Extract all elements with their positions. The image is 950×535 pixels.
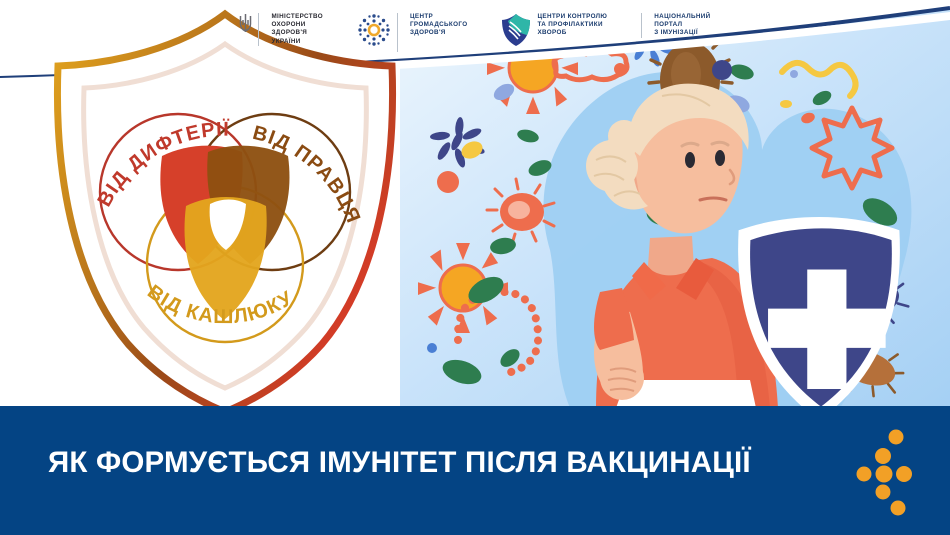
logo-divider — [258, 13, 259, 46]
logo-phc-label: Центр громадського здоров'я — [410, 13, 468, 38]
logo-public-health-center[interactable]: Центр громадського здоров'я — [357, 13, 468, 52]
cdc-shield-icon — [501, 13, 531, 52]
logo-ministry-of-health[interactable]: Міністерство охорони здоров'я України — [239, 13, 323, 46]
orange-dot-cluster — [852, 428, 938, 516]
poster-root: ВІД ДИФТЕРІЇ ВІД ПРАВЦЯ ВІД КАШЛЮКУ Міні… — [0, 0, 950, 535]
logo-divider — [397, 13, 398, 52]
logo-divider — [641, 13, 642, 38]
logo-portal-label: Національний портал з імунізації — [654, 13, 710, 38]
poster-title: ЯК ФОРМУЄТЬСЯ ІМУНІТЕТ ПІСЛЯ ВАКЦИНАЦІЇ — [48, 446, 838, 480]
header-logo-row: Міністерство охорони здоров'я України — [0, 0, 950, 72]
logo-ministry-label: Міністерство охорони здоров'я України — [271, 13, 323, 46]
logo-immunization-portal[interactable]: Національний портал з імунізації — [641, 13, 710, 38]
logo-cdc[interactable]: Центри контролю та профілактики хвороб — [501, 13, 607, 52]
logo-cdc-label: Центри контролю та профілактики хвороб — [537, 13, 607, 38]
ukraine-trident-icon — [239, 13, 252, 38]
public-health-sunburst-icon — [357, 13, 391, 52]
